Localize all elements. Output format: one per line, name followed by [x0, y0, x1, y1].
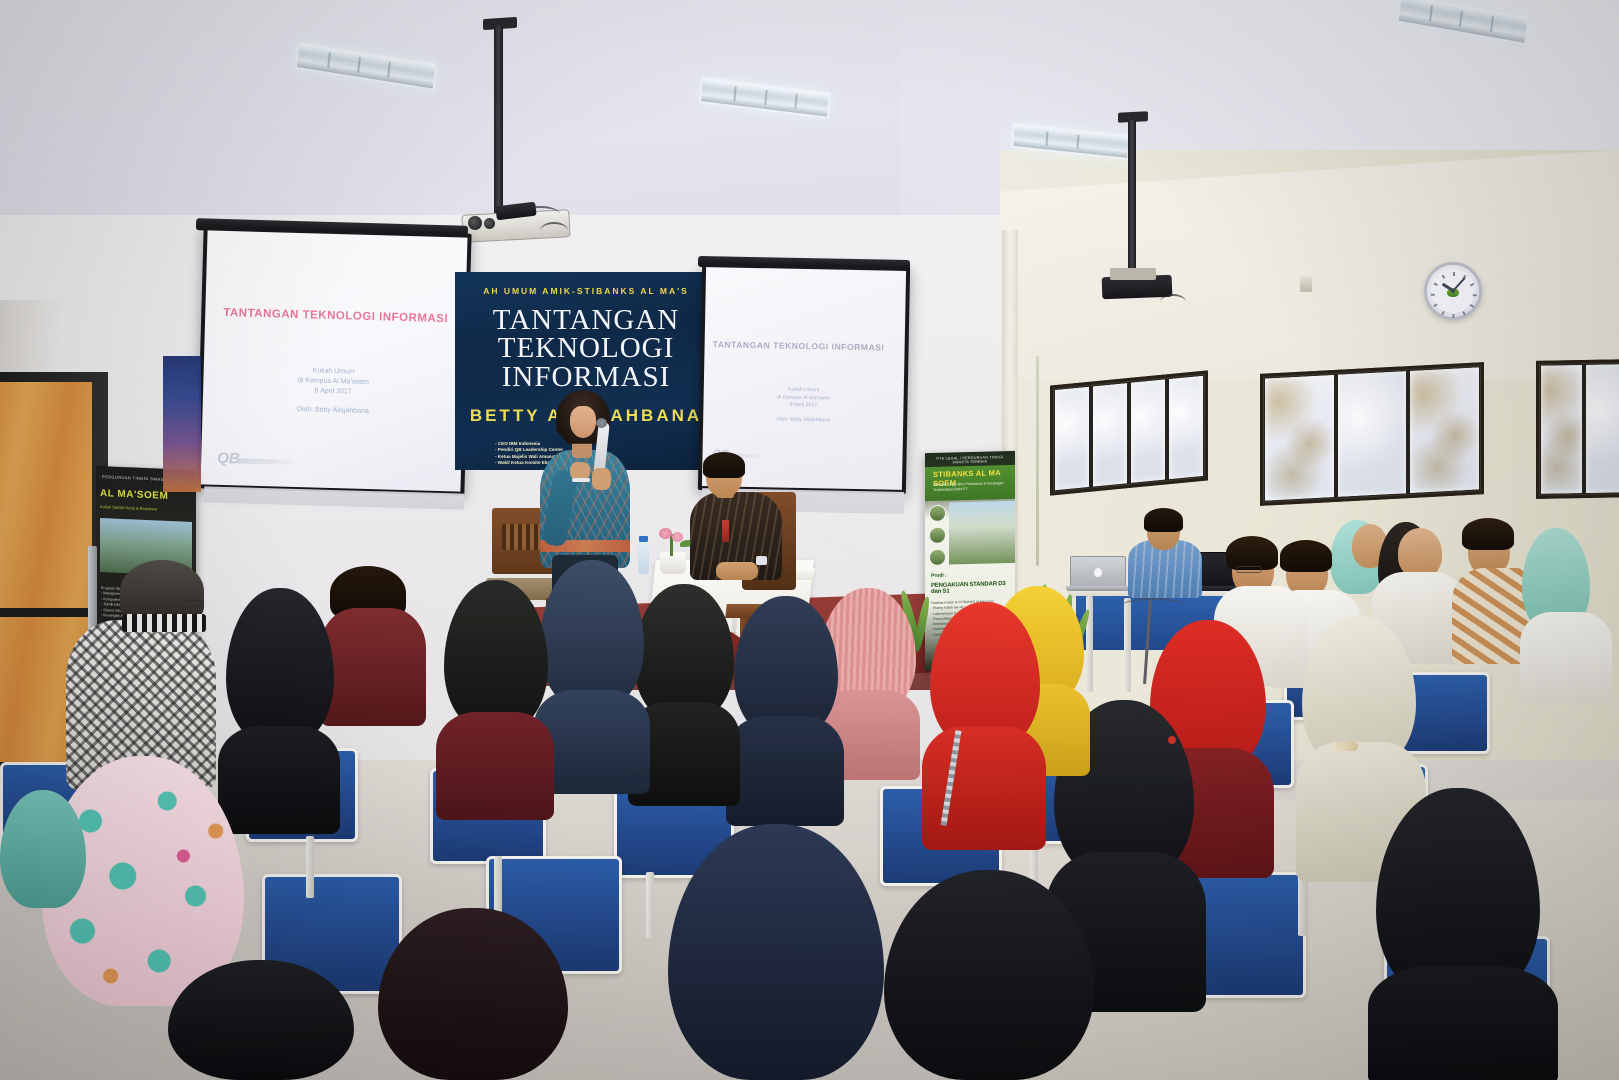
- banner-headline: TANTANGAN TEKNOLOGI INFORMASI: [455, 306, 717, 391]
- window-pane: [1586, 364, 1619, 493]
- window-right: [1536, 359, 1619, 499]
- window-left: [1050, 370, 1208, 495]
- audience-bracelet: [1332, 742, 1358, 751]
- clock-tick: [1470, 304, 1474, 307]
- glasses-icon: [180, 600, 204, 607]
- moderator-hands: [716, 562, 758, 580]
- clock-tick: [1453, 314, 1455, 318]
- projector-mount-pole: [494, 26, 503, 214]
- moderator-badge: [722, 520, 729, 542]
- macbook-base: [1066, 586, 1130, 591]
- audience-torso-black: [218, 726, 340, 834]
- batik-collar: [122, 614, 206, 632]
- wall-clock: [1424, 262, 1482, 320]
- rollup-right-prodi-label: Prodi :: [931, 573, 947, 579]
- clock-tick: [1470, 283, 1474, 286]
- audience-hair: [1226, 536, 1278, 570]
- clock-tick: [1442, 275, 1445, 279]
- wooden-chair-carving: [502, 524, 544, 550]
- hijab-pin-icon: [1168, 736, 1176, 744]
- projector-lens-secondary: [484, 218, 495, 229]
- rollup-right-photo: [949, 501, 1015, 565]
- slide-logo-wordmark: [237, 458, 295, 465]
- window-pane: [1265, 375, 1334, 501]
- audience-torso-maroon: [436, 712, 554, 820]
- audience-hair-grey: [120, 560, 204, 622]
- audience-torso: [1520, 612, 1612, 704]
- window-pane: [1055, 387, 1089, 490]
- audience-torso-maroon: [320, 608, 426, 726]
- window-pane: [1093, 383, 1127, 486]
- water-bottle: [638, 541, 649, 574]
- window-pane: [1541, 365, 1582, 494]
- clock-center-pin: [1451, 289, 1455, 293]
- audience-torso-black: [1368, 966, 1558, 1080]
- projector-cable-rear: [1160, 294, 1186, 310]
- moderator-watch: [756, 556, 767, 565]
- rollup-right-prodi-value: PENGAKUAN STANDAR D3 dan S1: [931, 581, 1015, 595]
- clock-face: [1431, 269, 1475, 313]
- lecture-hall-photo: TANTANGAN TEKNOLOGI INFORMASI Kuliah Umu…: [0, 0, 1619, 1080]
- projector-rear-bracket: [1110, 268, 1156, 280]
- flower-pot: [660, 552, 686, 574]
- bottle-cap: [639, 536, 648, 542]
- audience-hair: [1280, 540, 1332, 572]
- av-operator-hair: [1144, 508, 1183, 532]
- flower-bloom: [659, 528, 672, 539]
- chair-leg: [306, 836, 314, 898]
- wall-poster-fragment: [163, 356, 201, 492]
- audience-hair: [1462, 518, 1514, 550]
- av-cable: [1120, 598, 1186, 616]
- chair-leg: [646, 872, 654, 938]
- clock-tick: [1433, 304, 1437, 307]
- slide-subtitle-left: Kuliah Umum di Kampus Al Ma'soem 8 April…: [203, 363, 464, 401]
- slide-title-right: TANTANGAN TEKNOLOGI INFORMASI: [713, 339, 885, 352]
- window-pane: [1338, 371, 1407, 497]
- window-center: [1260, 362, 1484, 506]
- banner-top-line: AH UMUM AMIK-STIBANKS AL MA'S: [455, 286, 717, 296]
- moderator-hair: [703, 452, 745, 478]
- slide-title-left: TANTANGAN TEKNOLOGI INFORMASI: [223, 307, 448, 325]
- projection-screen-left-surface: TANTANGAN TEKNOLOGI INFORMASI Kuliah Umu…: [201, 230, 468, 491]
- rollup-left-subtitle: Kuliah Sambil Kerja & Beasiswa: [100, 504, 157, 511]
- rollup-right-subtitle: Sekolah Tinggi Ilmu Perbankan & Keuangan…: [933, 481, 1004, 492]
- projector-cable: [540, 222, 568, 240]
- slide-byline-right: Oleh: Betty Alisjahbana: [703, 415, 903, 426]
- rollup-right-header: PTS LEGAL / PERGURUAN TINGGI SWASTA TERB…: [929, 455, 1011, 465]
- wall-cable: [1036, 356, 1039, 566]
- clock-tick: [1463, 311, 1466, 315]
- apple-logo-icon: [1094, 568, 1102, 577]
- audience-torso-navy: [726, 716, 844, 826]
- presenter-face: [570, 406, 596, 438]
- audience-head-bald: [1398, 528, 1442, 578]
- projector-lens: [468, 216, 482, 230]
- audience-torso-red: [922, 726, 1046, 850]
- window-pane: [1131, 380, 1165, 483]
- clock-tick: [1453, 272, 1455, 276]
- microphone-grille-icon: [596, 418, 607, 428]
- slide-subtitle-right: Kuliah Umum di Kampus Al Ma'soem 8 April…: [703, 385, 903, 411]
- projection-screen-left-frame: TANTANGAN TEKNOLOGI INFORMASI Kuliah Umu…: [196, 226, 471, 495]
- clock-tick: [1431, 294, 1435, 296]
- slide-byline-left: Oleh: Betty Alisjahbana: [203, 402, 463, 419]
- projector-cable: [520, 206, 560, 222]
- door-mid-rail: [0, 608, 92, 617]
- presenter-hand-mic: [592, 468, 611, 490]
- rollup-left-title: AL MA'SOEM: [100, 488, 168, 502]
- smoke-detector: [1300, 276, 1312, 292]
- glasses-icon: [1236, 566, 1262, 573]
- projector-mount-pole-rear: [1128, 120, 1136, 272]
- window-pane: [1169, 376, 1203, 479]
- clock-tick: [1442, 311, 1445, 315]
- rollup-right-circle-photo: [929, 549, 946, 566]
- presenter-bracelet: [572, 478, 590, 482]
- clock-tick: [1473, 294, 1477, 296]
- clock-tick: [1433, 283, 1437, 286]
- rollup-right-circle-photo: [929, 505, 946, 522]
- rollup-right-circle-photo: [929, 527, 946, 544]
- window-pane: [1410, 367, 1479, 493]
